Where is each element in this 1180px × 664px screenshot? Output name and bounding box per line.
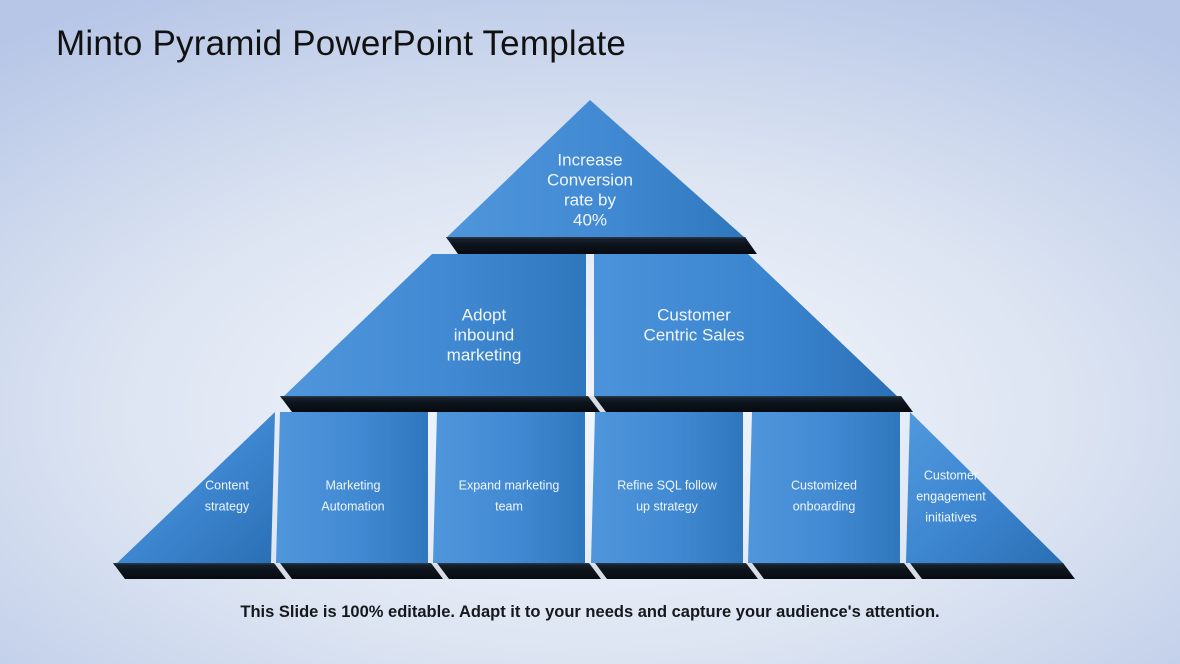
- segment-label-line: Centric Sales: [643, 325, 744, 344]
- segment-label-line: marketing: [447, 345, 522, 364]
- pyramid-level-2: Adopt inbound marketing Customer Centric…: [284, 254, 897, 396]
- segment-label-line: Adopt: [462, 305, 507, 324]
- pyramid-segment-marketing-automation[interactable]: Marketing Automation: [276, 412, 428, 563]
- segment-label-line: Customer: [657, 305, 731, 324]
- segment-label-line: up strategy: [636, 499, 699, 513]
- footer-note: This Slide is 100% editable. Adapt it to…: [0, 603, 1180, 622]
- segment-label-line: Expand marketing: [459, 478, 560, 492]
- segment-label-line: Customized: [791, 478, 857, 492]
- middle-shadow-slab: [280, 396, 913, 412]
- segment-label-line: engagement: [916, 489, 986, 503]
- pyramid-segment-adopt-inbound-marketing[interactable]: Adopt inbound marketing: [284, 254, 586, 396]
- segment-label-line: team: [495, 499, 523, 513]
- segment-label-line: Conversion: [547, 170, 633, 189]
- segment-label-line: Refine SQL follow: [617, 478, 718, 492]
- pyramid-segment-increase-conversion-rate[interactable]: Increase Conversion rate by 40%: [447, 100, 744, 237]
- minto-pyramid-diagram: Content strategy Marketing Automation Ex…: [0, 0, 1180, 664]
- segment-label-line: Increase: [557, 150, 622, 169]
- pyramid-segment-refine-sql-follow-up-strategy[interactable]: Refine SQL follow up strategy: [591, 412, 743, 563]
- pyramid-segment-content-strategy[interactable]: Content strategy: [117, 412, 275, 563]
- segment-label-line: Automation: [321, 499, 384, 513]
- slide-canvas: Minto Pyramid PowerPoint Template: [0, 0, 1180, 664]
- pyramid-segment-customer-engagement-initiatives[interactable]: Customer engagement initiatives: [906, 412, 1063, 563]
- pyramid-segment-customized-onboarding[interactable]: Customized onboarding: [748, 412, 900, 563]
- pyramid-segment-customer-centric-sales[interactable]: Customer Centric Sales: [594, 254, 897, 396]
- segment-label-line: 40%: [573, 210, 607, 229]
- base-shadow-slab: [113, 563, 1075, 579]
- pyramid-segment-expand-marketing-team[interactable]: Expand marketing team: [433, 412, 585, 563]
- apex-shadow-slab: [446, 237, 757, 254]
- segment-label-line: Content: [205, 478, 249, 492]
- pyramid-level-3: Content strategy Marketing Automation Ex…: [117, 412, 1063, 563]
- segment-label-line: onboarding: [793, 499, 856, 513]
- segment-label-line: strategy: [205, 499, 250, 513]
- segment-label-line: inbound: [454, 325, 515, 344]
- segment-label-line: Marketing: [326, 478, 381, 492]
- segment-label-line: initiatives: [925, 510, 976, 524]
- pyramid-level-1: Increase Conversion rate by 40%: [447, 100, 744, 237]
- segment-label-line: Customer: [924, 468, 978, 482]
- segment-label-line: rate by: [564, 190, 616, 209]
